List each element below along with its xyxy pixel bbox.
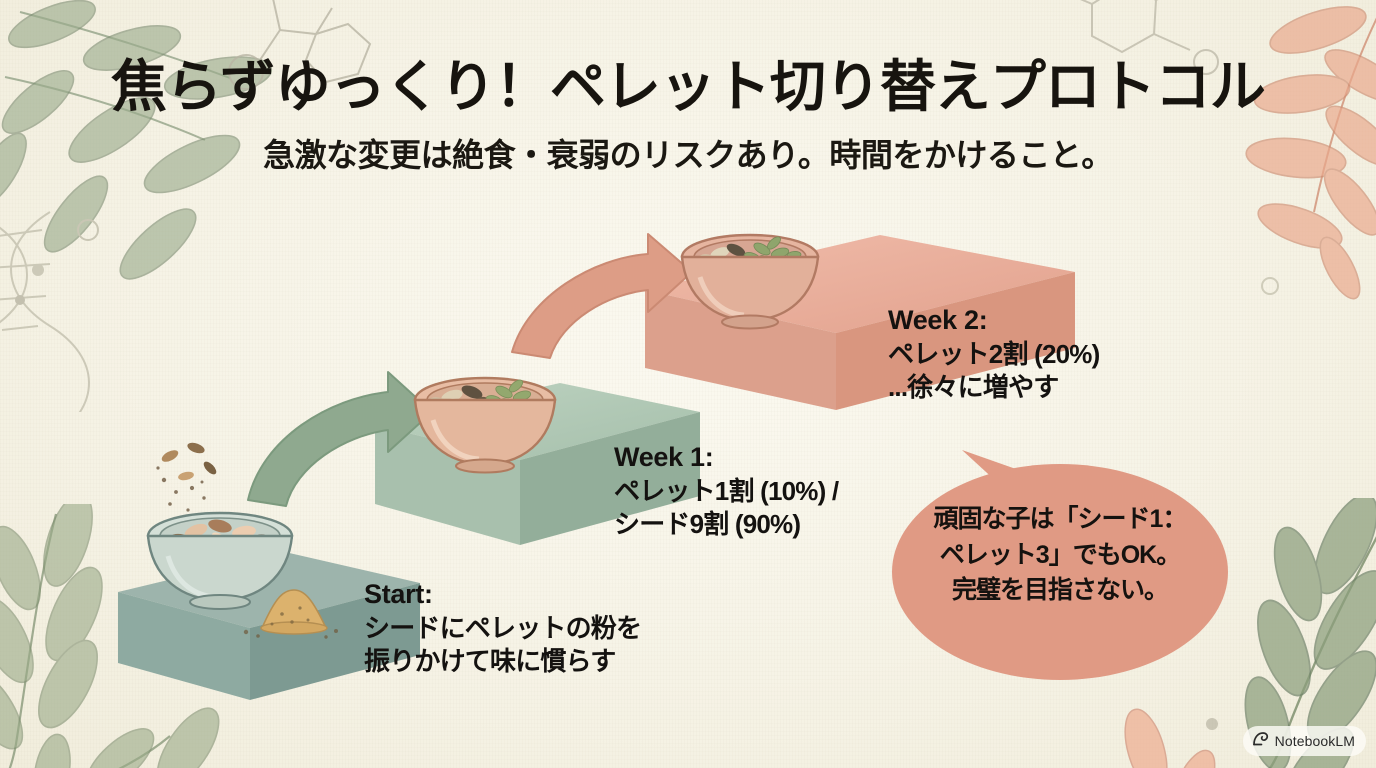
caption-week2-heading: Week 2: [888, 303, 1099, 338]
caption-week1-heading: Week 1: [614, 440, 838, 475]
notebooklm-spiral-icon [1252, 731, 1269, 751]
speech-bubble-line-1: 頑固な子は「シード1： [890, 502, 1230, 538]
speech-bubble: 頑固な子は「シード1： ペレット3」でもOK。 完璧を目指さない。 [890, 432, 1230, 682]
notebooklm-label: NotebookLM [1275, 733, 1355, 749]
caption-start-line-2: 振りかけて味に慣らす [364, 645, 641, 678]
caption-start: Start: シードにペレットの粉を 振りかけて味に慣らす [364, 577, 641, 678]
infographic-canvas: 焦らずゆっくり！ペレット切り替えプロトコル 急激な変更は絶食・衰弱のリスクあり。… [0, 0, 1376, 768]
caption-week1: Week 1: ペレット1割 (10%) / シード9割 (90%) [614, 440, 838, 541]
notebooklm-watermark: NotebookLM [1243, 726, 1366, 756]
caption-week1-line-2: シード9割 (90%) [614, 508, 838, 541]
speech-bubble-line-2: ペレット3」でもOK。 [890, 538, 1230, 574]
falling-seeds [156, 441, 218, 512]
caption-start-heading: Start: [364, 577, 641, 612]
caption-week1-line-1: ペレット1割 (10%) / [614, 475, 838, 508]
caption-start-line-1: シードにペレットの粉を [364, 612, 641, 645]
caption-week2-line-2: ...徐々に増やす [888, 371, 1099, 404]
caption-week2-line-1: ペレット2割 (20%) [888, 338, 1099, 371]
caption-week2: Week 2: ペレット2割 (20%) ...徐々に増やす [888, 303, 1099, 404]
speech-bubble-text: 頑固な子は「シード1： ペレット3」でもOK。 完璧を目指さない。 [890, 502, 1230, 609]
speech-bubble-line-3: 完璧を目指さない。 [890, 573, 1230, 609]
